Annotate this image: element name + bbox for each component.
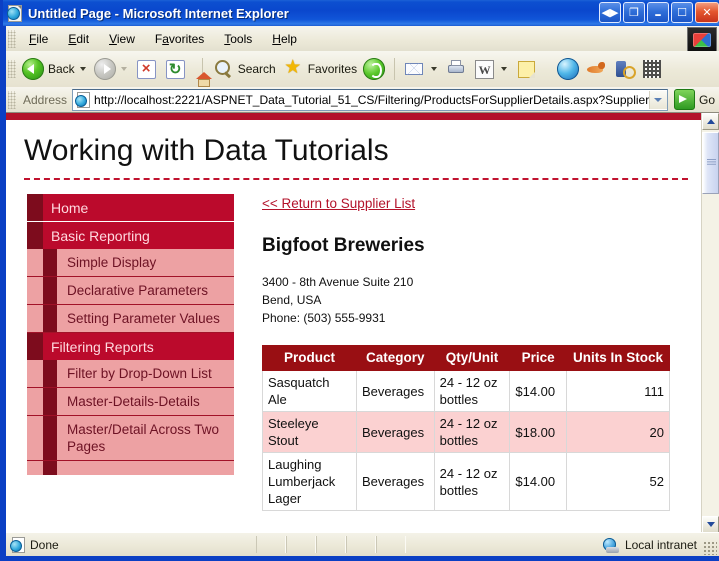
favorites-label: Favorites <box>308 62 357 76</box>
cell-product: Steeleye Stout <box>263 412 357 453</box>
mail-button[interactable] <box>401 54 442 84</box>
toolbar: Back Search ★ Favorites <box>6 51 719 88</box>
status-panes <box>256 536 406 553</box>
page-title-divider <box>24 178 688 180</box>
sidebar-item-label: Declarative Parameters <box>67 277 208 304</box>
sidebar-item-basic-reporting[interactable]: Basic Reporting <box>27 222 234 249</box>
supplier-address-line1: 3400 - 8th Avenue Suite 210 <box>262 273 692 291</box>
resize-grip[interactable] <box>703 541 717 555</box>
menu-edit[interactable]: Edit <box>59 29 98 49</box>
column-header-units-in-stock: Units In Stock <box>566 346 669 371</box>
print-button[interactable] <box>442 54 470 84</box>
search-icon <box>212 58 234 80</box>
page-icon <box>75 92 91 108</box>
scrollbar-track[interactable] <box>702 130 719 516</box>
ie-page-icon <box>7 5 23 21</box>
toolbar-separator-2 <box>394 58 395 80</box>
toggle-pane-button[interactable]: ❐ <box>623 2 645 23</box>
favorites-star-icon: ★ <box>282 58 304 80</box>
thumb-grip-icon <box>707 159 716 166</box>
sidebar-item-label: Master-Details-Details <box>67 388 200 415</box>
cell-product: Sasquatch Ale <box>263 371 357 412</box>
supplier-address-line2: Bend, USA <box>262 291 692 309</box>
scroll-down-button[interactable] <box>702 516 719 533</box>
go-arrow-icon <box>674 89 695 110</box>
cell-units-in-stock: 20 <box>566 412 669 453</box>
vertical-scrollbar[interactable] <box>701 113 719 533</box>
nav-stripe <box>27 222 43 249</box>
restore-group-button[interactable]: ◀▶ <box>599 2 621 23</box>
stop-icon <box>137 60 156 79</box>
sidebar-item-home[interactable]: Home <box>27 194 234 221</box>
home-button[interactable] <box>190 54 196 84</box>
back-history-chevron-icon[interactable] <box>80 67 86 71</box>
sidebar-item-filter-by-drop-down-list[interactable]: Filter by Drop-Down List <box>27 360 234 388</box>
menu-bar: FFileile Edit View Favorites Tools Help <box>6 26 719 52</box>
table-row: Steeleye Stout Beverages 24 - 12 oz bott… <box>263 412 670 453</box>
qr-icon <box>643 60 661 78</box>
sidebar-item-label: Filtering Reports <box>51 339 154 355</box>
products-table: Product Category Qty/Unit Price Units In… <box>262 345 670 511</box>
sidebar-item-simple-display[interactable]: Simple Display <box>27 249 234 277</box>
column-header-price: Price <box>510 346 567 371</box>
column-header-category: Category <box>356 346 434 371</box>
cell-product: Laughing Lumberjack Lager <box>263 453 357 511</box>
web-page: Working with Data Tutorials Home Basic R… <box>6 120 702 532</box>
address-input[interactable]: http://localhost:2221/ASPNET_Data_Tutori… <box>72 89 668 111</box>
scrollbar-thumb[interactable] <box>702 132 719 194</box>
print-icon <box>445 58 467 80</box>
nav-stripe <box>43 416 57 460</box>
security-zone-label: Local intranet <box>625 538 697 552</box>
status-page-icon <box>10 537 26 553</box>
go-button[interactable]: Go <box>674 89 715 110</box>
browser-window: Untitled Page - Microsoft Internet Explo… <box>0 0 719 561</box>
notes-icon <box>518 61 535 78</box>
msn-button[interactable] <box>554 54 582 84</box>
media-icon <box>363 58 385 80</box>
address-bar: Address http://localhost:2221/ASPNET_Dat… <box>6 87 719 113</box>
sidebar-item-setting-parameter-values[interactable]: Setting Parameter Values <box>27 305 234 333</box>
ie-brand-logo <box>687 27 717 52</box>
window-title: Untitled Page - Microsoft Internet Explo… <box>28 6 289 21</box>
nav-stripe <box>43 461 57 475</box>
qr-button[interactable] <box>638 54 666 84</box>
back-button[interactable]: Back <box>19 54 91 84</box>
messenger-button[interactable] <box>610 54 638 84</box>
supplier-name: Bigfoot Breweries <box>262 235 692 257</box>
sidebar-item-label: Simple Display <box>67 249 156 276</box>
edit-word-icon <box>475 60 494 79</box>
address-url-text: http://localhost:2221/ASPNET_Data_Tutori… <box>94 93 649 107</box>
mail-icon <box>404 58 426 80</box>
sidebar-item-label: Home <box>51 200 88 216</box>
menu-favorites[interactable]: Favorites <box>146 29 213 49</box>
sidebar-item-declarative-parameters[interactable]: Declarative Parameters <box>27 277 234 305</box>
menu-help[interactable]: Help <box>263 29 306 49</box>
chevron-up-icon <box>707 119 715 124</box>
chevron-down-icon <box>707 522 715 527</box>
cell-category: Beverages <box>356 371 434 412</box>
window-buttons: ◀▶ ❐ – ☐ ✕ <box>599 2 719 23</box>
address-drag-grip[interactable] <box>8 91 16 109</box>
refresh-icon <box>166 60 185 79</box>
msn-icon <box>557 58 579 80</box>
sidebar-item-master-detail-across-two-pages[interactable]: Master/Detail Across Two Pages <box>27 416 234 461</box>
cell-qty-unit: 24 - 12 oz bottles <box>434 412 510 453</box>
security-zone[interactable]: Local intranet <box>603 537 719 553</box>
favorites-button[interactable]: ★ Favorites <box>279 54 360 84</box>
sidebar-item-master-details-details[interactable]: Master-Details-Details <box>27 388 234 416</box>
sidebar-item-filtering-reports[interactable]: Filtering Reports <box>27 333 234 360</box>
nav-stripe <box>43 277 57 304</box>
return-to-supplier-list-link[interactable]: << Return to Supplier List <box>262 196 415 211</box>
status-text: Done <box>30 538 59 552</box>
edit-chevron-icon[interactable] <box>501 67 507 71</box>
table-header-row: Product Category Qty/Unit Price Units In… <box>263 346 670 371</box>
mail-chevron-icon[interactable] <box>431 67 437 71</box>
sidebar-item-label: Setting Parameter Values <box>67 305 220 332</box>
search-button[interactable]: Search <box>209 54 279 84</box>
status-bar: Done Local intranet <box>6 532 719 556</box>
sidebar-nav: Home Basic Reporting Simple Display Decl… <box>27 194 234 511</box>
cell-qty-unit: 24 - 12 oz bottles <box>434 371 510 412</box>
cell-price: $18.00 <box>510 412 567 453</box>
cell-category: Beverages <box>356 453 434 511</box>
page-top-accent-bar <box>6 113 702 120</box>
table-row: Laughing Lumberjack Lager Beverages 24 -… <box>263 453 670 511</box>
firefox-icon <box>585 58 607 80</box>
title-bar: Untitled Page - Microsoft Internet Explo… <box>3 0 719 26</box>
cell-price: $14.00 <box>510 453 567 511</box>
menu-file[interactable]: FFileile <box>20 29 57 49</box>
forward-button[interactable] <box>91 54 132 84</box>
back-icon <box>22 58 44 80</box>
sidebar-overflow-clip <box>27 461 234 475</box>
notes-button[interactable] <box>512 54 541 84</box>
chevron-down-icon <box>654 98 662 102</box>
sidebar-item-label: Master/Detail Across Two Pages <box>67 416 228 460</box>
address-dropdown-button[interactable] <box>649 91 667 109</box>
nav-stripe <box>43 388 57 415</box>
cell-units-in-stock: 52 <box>566 453 669 511</box>
forward-history-chevron-icon[interactable] <box>121 67 127 71</box>
table-row: Sasquatch Ale Beverages 24 - 12 oz bottl… <box>263 371 670 412</box>
back-label: Back <box>48 62 75 76</box>
page-body: Home Basic Reporting Simple Display Decl… <box>6 194 702 511</box>
refresh-button[interactable] <box>161 54 190 84</box>
cell-category: Beverages <box>356 412 434 453</box>
maximize-button[interactable]: ☐ <box>671 2 693 23</box>
page-title: Working with Data Tutorials <box>24 134 702 168</box>
cell-units-in-stock: 111 <box>566 371 669 412</box>
scroll-up-button[interactable] <box>702 113 719 130</box>
menu-drag-grip[interactable] <box>8 30 16 48</box>
nav-stripe <box>27 194 43 221</box>
stop-button[interactable] <box>132 54 161 84</box>
nav-stripe <box>43 249 57 276</box>
search-label: Search <box>238 62 276 76</box>
minimize-button[interactable]: – <box>647 2 669 23</box>
edit-word-button[interactable] <box>470 54 512 84</box>
column-header-qty-unit: Qty/Unit <box>434 346 510 371</box>
sidebar-item-label: Filter by Drop-Down List <box>67 360 212 387</box>
supplier-phone: Phone: (503) 555-9931 <box>262 309 692 327</box>
page-viewport: Working with Data Tutorials Home Basic R… <box>6 112 719 533</box>
intranet-zone-icon <box>603 537 620 553</box>
main-content: << Return to Supplier List Bigfoot Brewe… <box>262 194 702 511</box>
firefox-button[interactable] <box>582 54 610 84</box>
close-button[interactable]: ✕ <box>695 2 719 23</box>
cell-qty-unit: 24 - 12 oz bottles <box>434 453 510 511</box>
column-header-product: Product <box>263 346 357 371</box>
sidebar-item-label: Basic Reporting <box>51 228 150 244</box>
menu-view[interactable]: View <box>100 29 144 49</box>
media-button[interactable] <box>360 54 388 84</box>
cell-price: $14.00 <box>510 371 567 412</box>
nav-stripe <box>43 360 57 387</box>
address-label: Address <box>23 93 67 107</box>
nav-stripe <box>43 305 57 332</box>
nav-stripe <box>27 333 43 360</box>
menu-tools[interactable]: Tools <box>215 29 261 49</box>
supplier-address: 3400 - 8th Avenue Suite 210 Bend, USA Ph… <box>262 273 692 327</box>
messenger-icon <box>613 58 635 80</box>
forward-icon <box>94 58 116 80</box>
go-label: Go <box>699 93 715 107</box>
toolbar-drag-grip[interactable] <box>8 60 16 78</box>
